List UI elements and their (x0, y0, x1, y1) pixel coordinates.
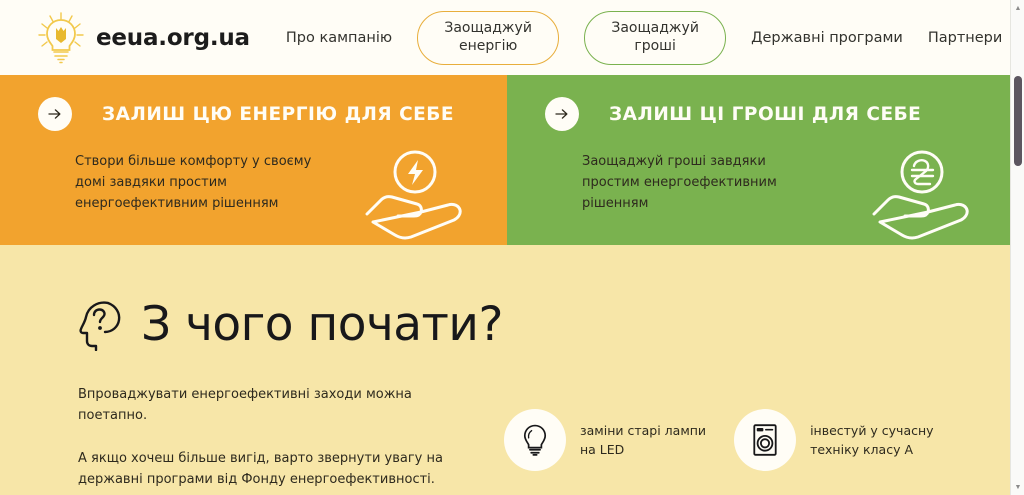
site-header: eeua.org.ua Про кампанію Заощаджуй енерг… (0, 0, 1010, 75)
scrollbar-thumb[interactable] (1014, 76, 1022, 166)
brand-name[interactable]: eeua.org.ua (96, 25, 250, 51)
washing-machine-icon (734, 409, 796, 471)
tip-led-lamps-label: заміни старі лампи на LED (580, 421, 706, 460)
banner-strip: ЗАЛИШ ЦЮ ЕНЕРГІЮ ДЛЯ СЕБЕ Створи більше … (0, 75, 1010, 245)
tip-led-lamps[interactable]: заміни старі лампи на LED (504, 390, 706, 490)
intro-paragraph-1: Впроваджувати енергоефективні заходи мож… (78, 384, 478, 426)
scrollbar-down-arrow-icon[interactable]: ▼ (1011, 480, 1024, 494)
banner-save-energy-description: Створи більше комфорту у своєму домі зав… (0, 151, 330, 214)
hand-holding-lightning-icon (365, 148, 465, 240)
page-scrollbar[interactable]: ▲ ▼ (1010, 0, 1024, 495)
intro-paragraph-2: А якщо хочеш більше вигід, варто звернут… (78, 448, 478, 490)
banner-save-energy[interactable]: ЗАЛИШ ЦЮ ЕНЕРГІЮ ДЛЯ СЕБЕ Створи більше … (0, 75, 507, 245)
tip-class-a-appliances-label: інвестуй у сучасну техніку класу А (810, 421, 933, 460)
section-body-row: Впроваджувати енергоефективні заходи мож… (0, 352, 1010, 490)
banner-save-money-description: Заощаджуй гроші завдяки простим енергоеф… (507, 151, 817, 214)
lightbulb-icon (504, 409, 566, 471)
nav-pill-save-energy-line2: енергію (459, 38, 517, 56)
banner-save-energy-title: ЗАЛИШ ЦЮ ЕНЕРГІЮ ДЛЯ СЕБЕ (102, 104, 454, 125)
nav-pill-save-money-line2: гроші (634, 38, 676, 56)
hand-holding-hryvnia-icon (872, 148, 972, 240)
banner-save-money-title: ЗАЛИШ ЦІ ГРОШІ ДЛЯ СЕБЕ (609, 104, 921, 125)
nav-pill-save-energy[interactable]: Заощаджуй енергію (417, 11, 559, 65)
tips-list: заміни старі лампи на LED інвестуй у суч… (504, 384, 934, 490)
intro-paragraphs: Впроваджувати енергоефективні заходи мож… (78, 384, 478, 490)
head-question-mark-icon (78, 299, 124, 351)
nav-pill-save-money[interactable]: Заощаджуй гроші (584, 11, 726, 65)
scrollbar-up-arrow-icon[interactable]: ▲ (1011, 1, 1024, 15)
page-title: З чого почати? (141, 297, 503, 352)
page-root: eeua.org.ua Про кампанію Заощаджуй енерг… (0, 0, 1010, 495)
nav-link-state-programs[interactable]: Державні програми (751, 30, 903, 46)
banner-save-money-header: ЗАЛИШ ЦІ ГРОШІ ДЛЯ СЕБЕ (507, 97, 1010, 131)
lightbulb-tryzub-logo-icon[interactable] (36, 12, 86, 64)
nav-link-about[interactable]: Про кампанію (286, 30, 392, 46)
get-started-section: З чого почати? Впроваджувати енергоефект… (0, 245, 1010, 495)
tip-class-a-appliances[interactable]: інвестуй у сучасну техніку класу А (734, 390, 933, 490)
banner-save-energy-header: ЗАЛИШ ЦЮ ЕНЕРГІЮ ДЛЯ СЕБЕ (0, 97, 507, 131)
section-heading-row: З чого почати? (0, 245, 1010, 352)
nav-pill-save-energy-line1: Заощаджуй (444, 20, 532, 38)
arrow-right-icon[interactable] (545, 97, 579, 131)
arrow-right-icon[interactable] (38, 97, 72, 131)
banner-save-money[interactable]: ЗАЛИШ ЦІ ГРОШІ ДЛЯ СЕБЕ Заощаджуй гроші … (507, 75, 1010, 245)
nav-link-partners[interactable]: Партнери (928, 30, 1002, 46)
nav-pill-save-money-line1: Заощаджуй (611, 20, 699, 38)
